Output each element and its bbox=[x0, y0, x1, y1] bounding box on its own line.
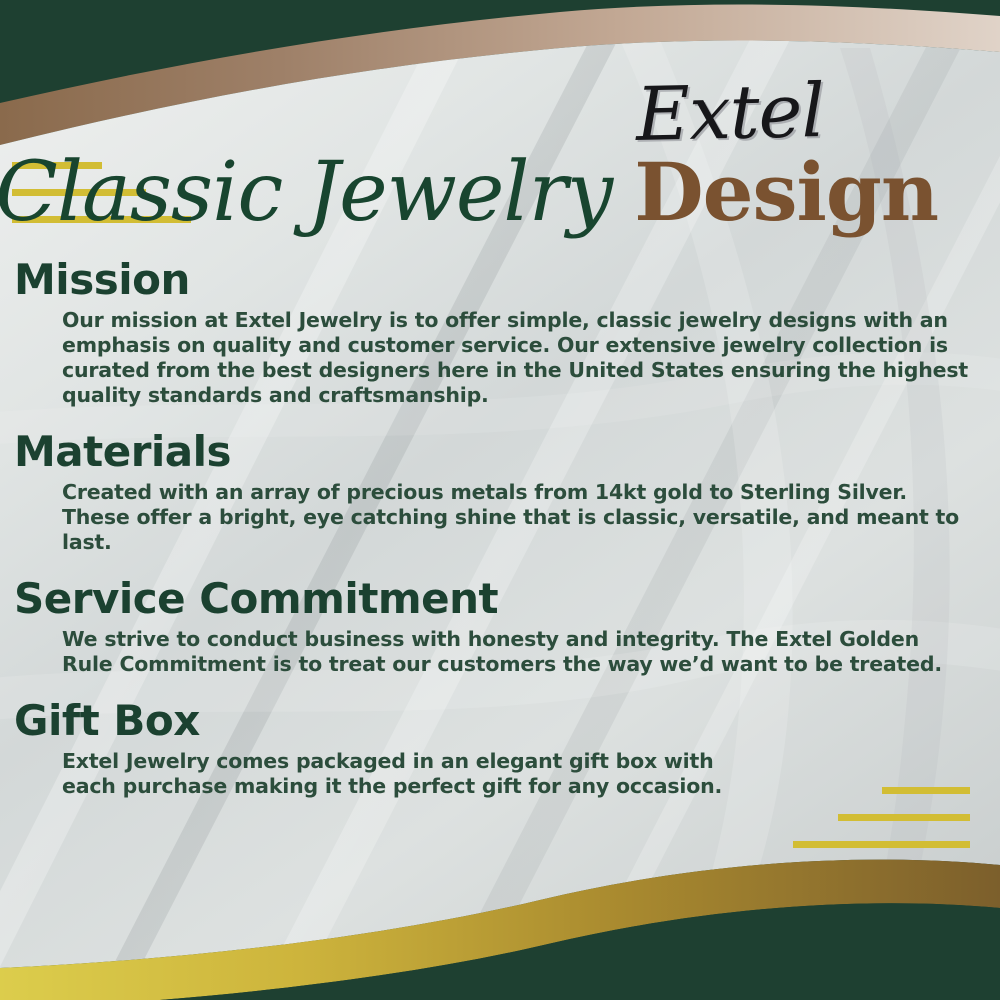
section-body-materials: Created with an array of precious metals… bbox=[62, 480, 970, 555]
section-heading-service-commitment: Service Commitment bbox=[14, 577, 1000, 621]
title-classic-jewelry: Classic Jewelry bbox=[0, 152, 612, 234]
section-heading-mission: Mission bbox=[14, 258, 1000, 302]
section-materials: Materials Created with an array of preci… bbox=[0, 430, 1000, 555]
section-heading-materials: Materials bbox=[14, 430, 1000, 474]
sections-container: Mission Our mission at Extel Jewelry is … bbox=[0, 258, 1000, 799]
gold-rule-medium bbox=[838, 814, 970, 821]
gold-rule-short bbox=[882, 787, 970, 794]
section-body-gift-box: Extel Jewelry comes packaged in an elega… bbox=[62, 749, 760, 799]
section-service-commitment: Service Commitment We strive to conduct … bbox=[0, 577, 1000, 677]
poster-canvas: Extel Classic Jewelry Design Mission Our… bbox=[0, 0, 1000, 1000]
section-mission: Mission Our mission at Extel Jewelry is … bbox=[0, 258, 1000, 408]
title-design: Design bbox=[634, 152, 938, 232]
poster-title: Classic Jewelry Design bbox=[0, 152, 1000, 258]
gold-rule-long bbox=[793, 841, 970, 848]
section-body-service-commitment: We strive to conduct business with hones… bbox=[62, 627, 970, 677]
section-heading-gift-box: Gift Box bbox=[14, 699, 1000, 743]
section-gift-box: Gift Box Extel Jewelry comes packaged in… bbox=[0, 699, 1000, 799]
section-body-mission: Our mission at Extel Jewelry is to offer… bbox=[62, 308, 970, 408]
